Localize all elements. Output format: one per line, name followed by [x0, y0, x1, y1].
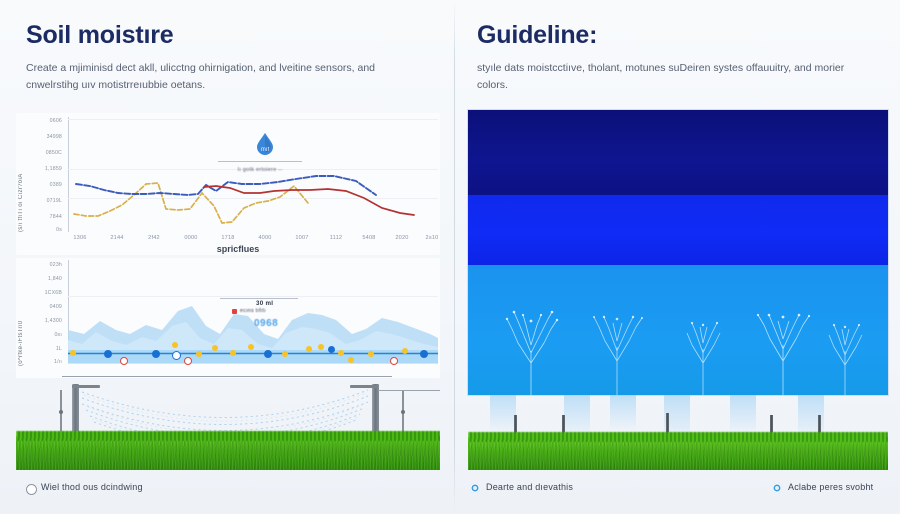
x-tick: 4000 [245, 235, 285, 241]
blue-series-line [76, 176, 376, 195]
annotation-value: 0968 [254, 318, 278, 329]
left-subtitle: Create a mjiminisd dect akll, ulicctng o… [26, 60, 426, 94]
x-tick: 2144 [97, 235, 137, 241]
left-header: Soil moistıre Create a mjiminisd dect ak… [0, 22, 455, 94]
marker-dot [248, 344, 254, 350]
marker-dot [172, 342, 178, 348]
x-tick: 1306 [60, 235, 100, 241]
irrigation-scene [16, 370, 440, 470]
annotation-rule [220, 298, 298, 299]
x-tick: 1718 [208, 235, 248, 241]
mist-plume [490, 395, 516, 433]
marker-dot [390, 357, 398, 365]
marker-dot [348, 357, 354, 363]
annotation-volume: 30 ml [256, 300, 273, 307]
marker-dot [402, 348, 408, 354]
area-chart-series [16, 258, 440, 378]
moisture-color-bands [468, 110, 888, 395]
left-caption: Wiel thod ous dcindwing [41, 482, 143, 492]
soil-moisture-infographic: Soil moistıre Create a mjiminisd dect ak… [0, 0, 900, 514]
water-drop-icon: mıf [252, 130, 278, 161]
spray-fractal [660, 303, 746, 395]
spray-fractal [802, 303, 888, 395]
spray-fractal [574, 303, 660, 395]
right-irrigation-scene [468, 395, 888, 470]
annotation-tag: ecıns tıfıtı [240, 308, 266, 314]
marker-dot [318, 344, 324, 350]
sprinkler-arm-left [72, 385, 100, 388]
sprinkler-post-right [372, 384, 379, 438]
caption-bullet-icon [772, 483, 782, 493]
marker-dot [328, 346, 335, 353]
legend-rule [218, 161, 302, 162]
x-tick: 2f42 [134, 235, 174, 241]
mist-plume [730, 395, 756, 435]
gold-series-line [74, 183, 308, 223]
x-tick: 0000 [171, 235, 211, 241]
marker-dot [420, 350, 428, 358]
caption-bullet-icon [470, 483, 480, 493]
marker-dot [104, 350, 112, 358]
band-deep [468, 110, 888, 195]
right-caption-left: Dearte and dıevathis [486, 482, 573, 492]
grass-strip [16, 436, 440, 470]
marker-dot [264, 350, 272, 358]
spray-fractal [488, 303, 574, 395]
line-chart-series [16, 113, 440, 255]
marker-dot [282, 351, 288, 357]
marker-dot [172, 351, 181, 360]
area-chart: (o^rtke-ıFtsTrı0 023h 1,840 1CX6B 0409 1… [16, 258, 440, 378]
left-panel: Soil moistıre Create a mjiminisd dect ak… [0, 0, 455, 514]
page-title: Soil moistıre [26, 22, 435, 50]
svg-text:mıf: mıf [261, 147, 270, 153]
marker-dot [338, 350, 344, 356]
sprinkler-post-left [72, 384, 79, 438]
right-caption-right: Aclabe peres svobht [788, 482, 873, 492]
marker-dot [152, 350, 160, 358]
marker-dot [230, 350, 236, 356]
marker-dot [212, 345, 218, 351]
marker-dot [306, 346, 312, 352]
band-mid [468, 195, 888, 265]
marker-dot [120, 357, 128, 365]
caption-ring-icon [26, 484, 37, 495]
line-chart: (s/ı tfıTı oı Cızr?oıA 0606 34998 0850C … [16, 113, 440, 255]
red-series-line [204, 186, 414, 215]
x-tick: 2s10 [412, 235, 452, 241]
sprinkler-arm-right [350, 385, 378, 388]
marker-dot [368, 351, 374, 357]
guideline-title: Guideline: [477, 22, 882, 50]
marker-dot [70, 350, 76, 356]
right-header: Guideline: styıle dats moistcctiıve, tho… [455, 22, 900, 94]
line-chart-x-axis-title: spricflues [178, 244, 298, 254]
legend-label: Iı gotk ertoiere -- [200, 167, 320, 173]
mist-plume [610, 395, 636, 431]
ground-rail-right [378, 390, 440, 391]
grass-strip-right [468, 437, 888, 470]
marker-dot [196, 351, 202, 357]
marker-dot [184, 357, 192, 365]
annotation-marker-square [232, 309, 237, 314]
right-subtitle: styıle dats moistcctiıve, tholant, motun… [477, 60, 867, 94]
